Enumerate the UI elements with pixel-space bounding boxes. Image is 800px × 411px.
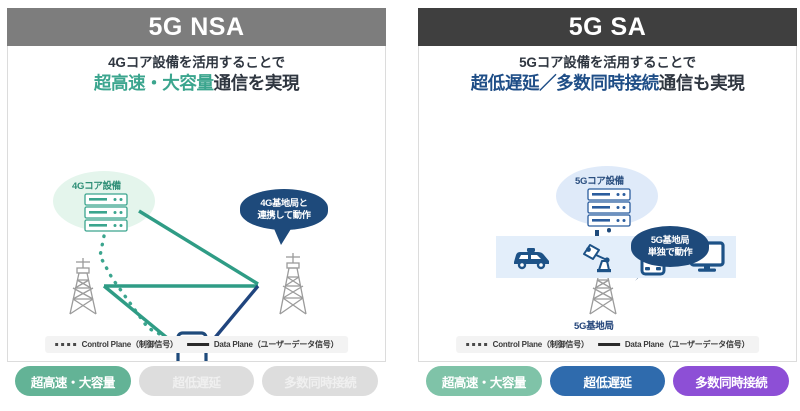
legend-label-control-plane-sa: Control Plane（制御信号） [493, 339, 589, 350]
dashed-line-swatch-icon [466, 343, 488, 346]
callout-bubble-nsa: 4G基地局と 連携して動作 [240, 189, 328, 230]
panel-title-sa: 5G SA [418, 8, 797, 46]
pill-high-speed-nsa[interactable]: 超高速・大容量 [15, 366, 131, 396]
legend-sa: Control Plane（制御信号） Data Plane（ユーザーデータ信号… [456, 336, 760, 353]
diagram-canvas-sa [419, 46, 796, 361]
core-label-sa: 5Gコア設備 [575, 173, 624, 187]
feature-pills-nsa: 超高速・大容量 超低遅延 多数同時接続 [7, 364, 386, 398]
base-station-tower-4g [70, 258, 96, 314]
pill-mass-connection-nsa[interactable]: 多数同時接続 [262, 366, 378, 396]
callout-line2-nsa: 連携して動作 [247, 210, 321, 222]
pill-mass-connection-sa[interactable]: 多数同時接続 [673, 366, 789, 396]
panel-5g-sa: 5G SA 5Gコア設備を活用することで 超低遅延／多数同時接続通信も実現 [418, 8, 797, 404]
callout-bubble-sa: 5G基地局 単独で動作 [631, 226, 709, 267]
legend-item-data-plane-nsa: Data Plane（ユーザーデータ信号） [187, 339, 339, 350]
core-label-nsa: 4Gコア設備 [72, 178, 121, 192]
legend-item-control-plane-nsa: Control Plane（制御信号） [55, 339, 178, 350]
legend-label-data-plane-nsa: Data Plane（ユーザーデータ信号） [214, 339, 339, 350]
feature-pills-sa: 超高速・大容量 超低遅延 多数同時接続 [418, 364, 797, 398]
legend-label-control-plane-nsa: Control Plane（制御信号） [82, 339, 178, 350]
legend-label-data-plane-sa: Data Plane（ユーザーデータ信号） [625, 339, 750, 350]
pill-low-latency-nsa[interactable]: 超低遅延 [139, 366, 255, 396]
robot-arm-icon [577, 241, 617, 273]
callout-line2-sa: 単独で動作 [638, 247, 702, 259]
solid-line-swatch-icon [598, 343, 620, 346]
base-station-tower-5g [280, 253, 306, 314]
pill-high-speed-sa[interactable]: 超高速・大容量 [426, 366, 542, 396]
panel-5g-nsa: 5G NSA 4Gコア設備を活用することで 超高速・大容量通信を実現 [7, 8, 386, 404]
pill-low-latency-sa[interactable]: 超低遅延 [550, 366, 666, 396]
car-icon [508, 243, 554, 271]
sa-diagram-svg [419, 46, 796, 362]
diagram-canvas-nsa [8, 46, 385, 361]
base-station-label-5g-sa: 5G基地局 [574, 318, 614, 332]
panel-body-nsa: 4Gコア設備を活用することで 超高速・大容量通信を実現 [7, 46, 386, 362]
nsa-diagram-svg [8, 46, 385, 362]
callout-line1-sa: 5G基地局 [638, 235, 702, 247]
solid-line-swatch-icon [187, 343, 209, 346]
dashed-line-swatch-icon [55, 343, 77, 346]
legend-nsa: Control Plane（制御信号） Data Plane（ユーザーデータ信号… [45, 336, 349, 353]
callout-line1-nsa: 4G基地局と [247, 198, 321, 210]
legend-item-control-plane-sa: Control Plane（制御信号） [466, 339, 589, 350]
data-plane-core-to-5g-nsa [139, 211, 258, 284]
panel-title-nsa: 5G NSA [7, 8, 386, 46]
legend-item-data-plane-sa: Data Plane（ユーザーデータ信号） [598, 339, 750, 350]
diagram-stage: 5G NSA 4Gコア設備を活用することで 超高速・大容量通信を実現 [0, 0, 800, 411]
panel-body-sa: 5Gコア設備を活用することで 超低遅延／多数同時接続通信も実現 [418, 46, 797, 362]
